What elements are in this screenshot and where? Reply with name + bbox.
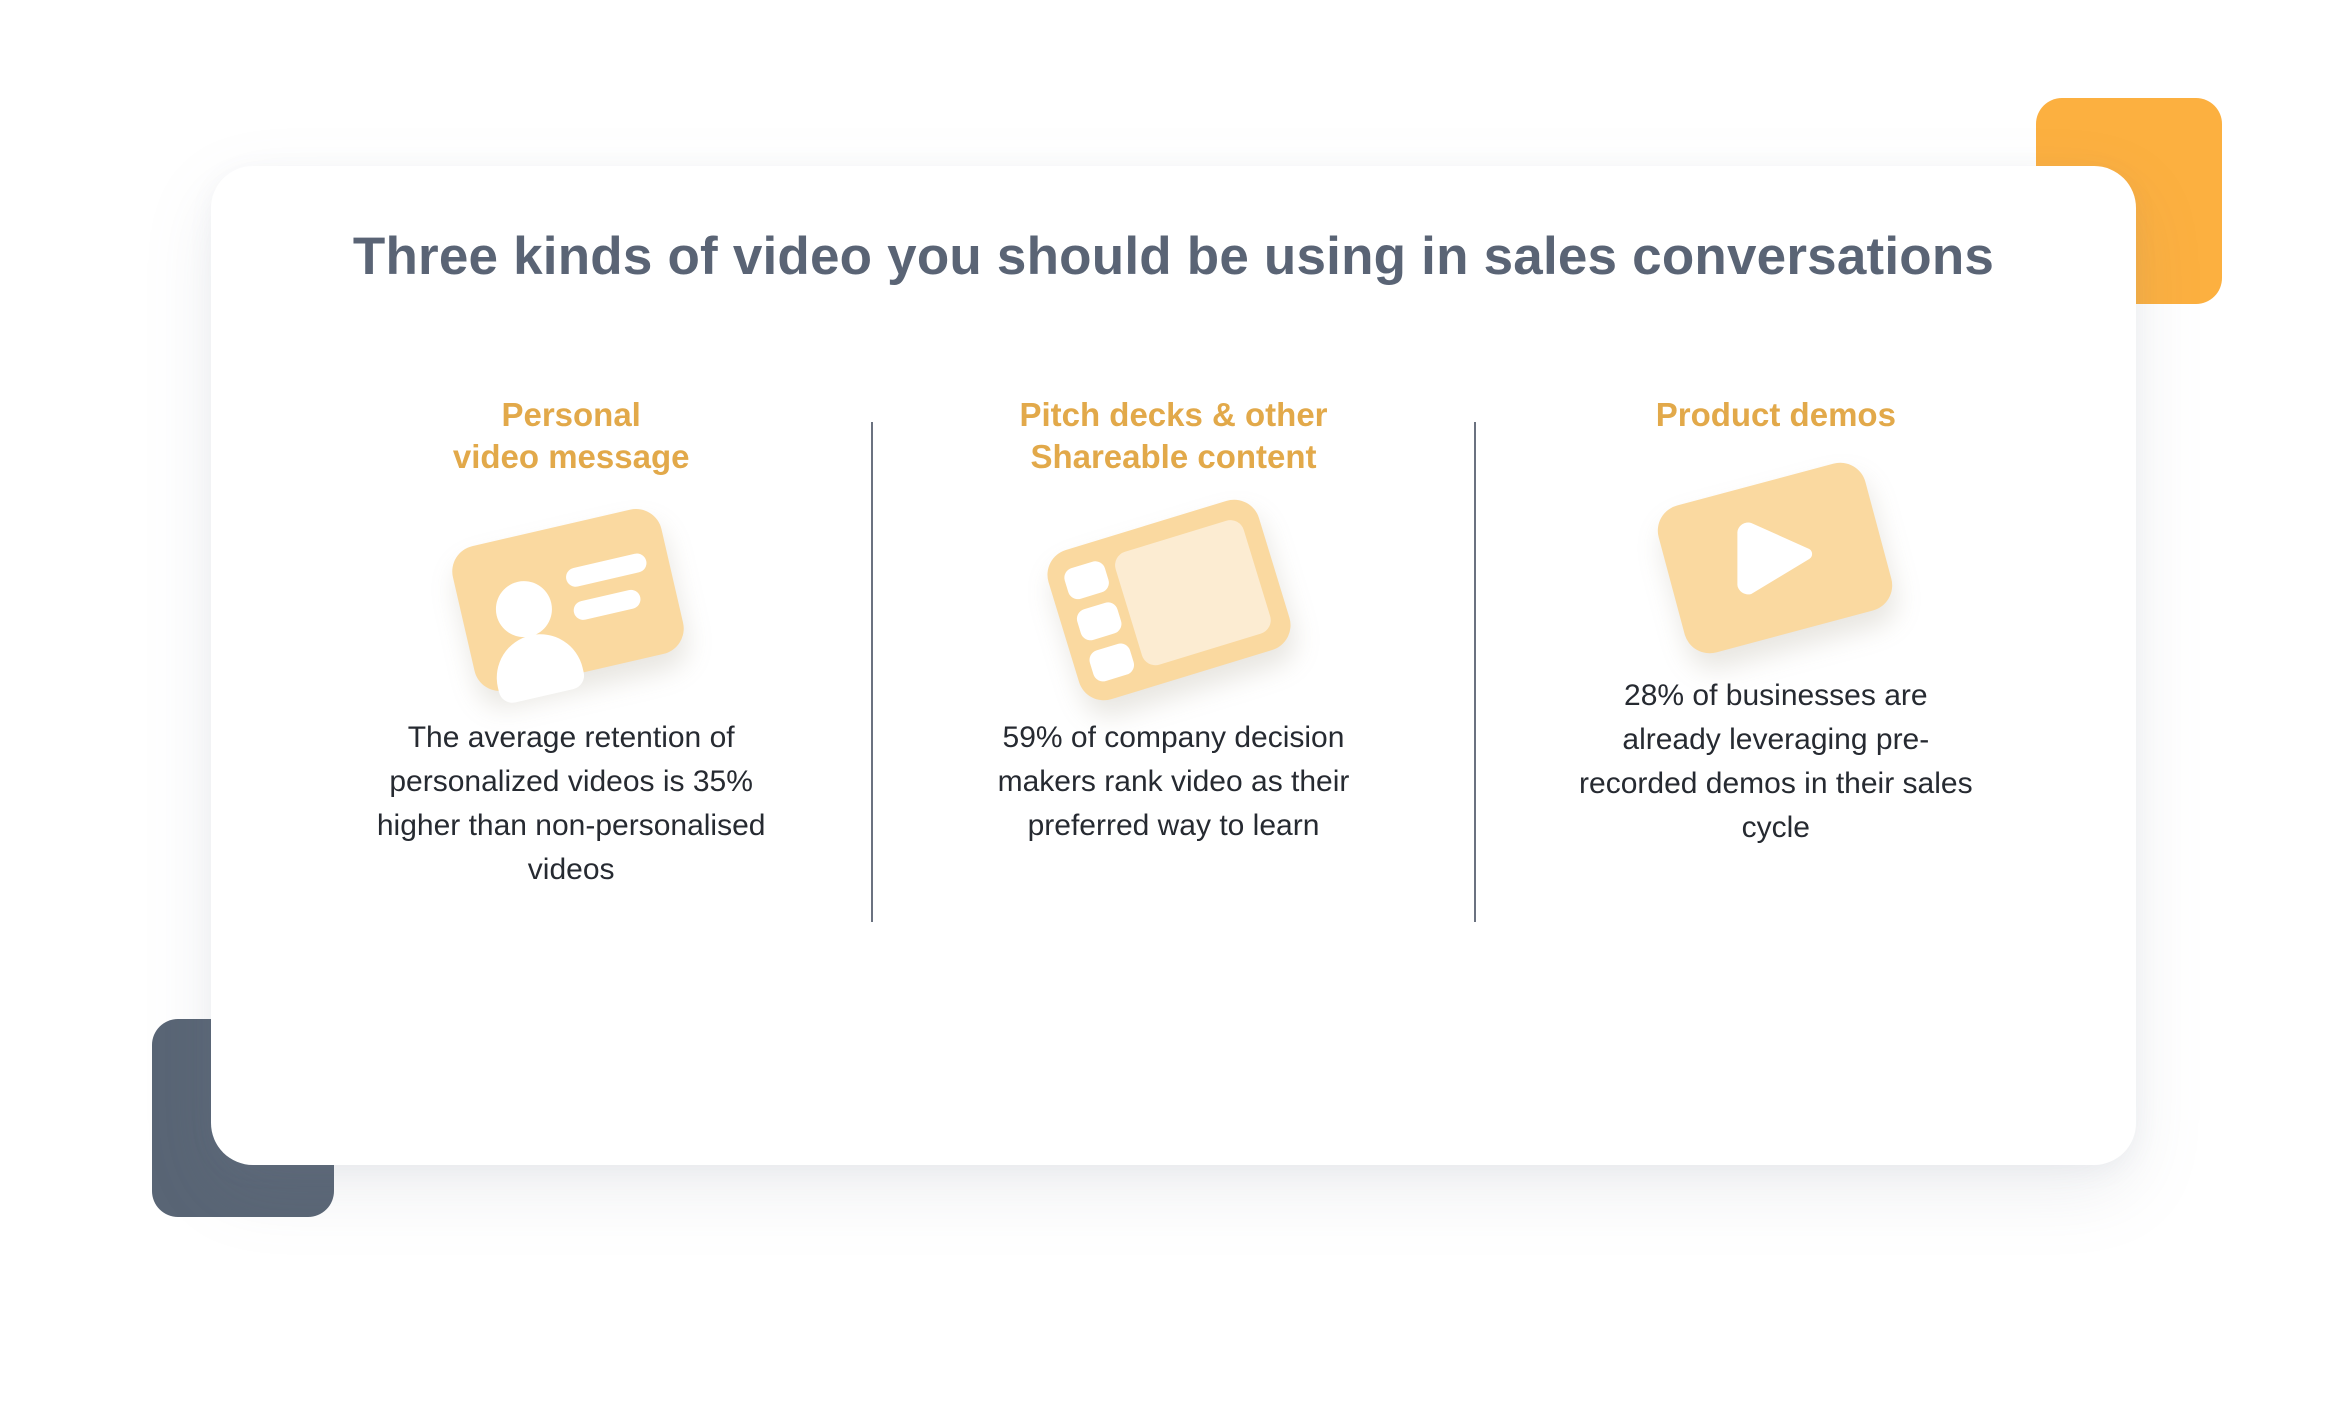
slide-deck-icon: [1041, 493, 1297, 707]
column-body-text: 59% of company decision makers rank vide…: [973, 716, 1373, 848]
person-head-shape: [491, 575, 558, 642]
column-heading: Pitch decks & other Shareable content: [1019, 394, 1327, 478]
person-body-shape: [488, 625, 587, 705]
column-personal-video-message: Personal video message The average reten…: [271, 394, 871, 954]
slide-canvas: Three kinds of video you should be using…: [0, 0, 2348, 1412]
column-heading-line2: video message: [453, 438, 690, 475]
column-heading-line1: Pitch decks & other: [1019, 396, 1327, 433]
slide-thumbnail-3: [1087, 641, 1137, 684]
column-heading: Personal video message: [453, 394, 690, 478]
main-slide-shape: [1112, 516, 1275, 668]
column-heading-line1: Product demos: [1656, 396, 1896, 433]
content-card: Three kinds of video you should be using…: [211, 166, 2136, 1165]
column-pitch-decks: Pitch decks & other Shareable content 59…: [873, 394, 1473, 954]
column-body-text: The average retention of personalized vi…: [356, 716, 786, 892]
icon-wrap: [431, 504, 711, 694]
page-title: Three kinds of video you should be using…: [211, 226, 2136, 287]
slide-thumbnail-1: [1062, 559, 1112, 602]
column-body-text: 28% of businesses are already leveraging…: [1576, 674, 1976, 850]
text-bar-short: [572, 588, 643, 622]
column-heading-line1: Personal: [501, 396, 640, 433]
icon-wrap: [1033, 504, 1313, 694]
column-heading-line2: Shareable content: [1030, 438, 1316, 475]
text-bar-long: [564, 551, 648, 588]
slide-thumbnail-2: [1075, 600, 1125, 643]
column-product-demos: Product demos 28% of businesses are alre…: [1476, 394, 2076, 954]
play-button-icon: [1652, 457, 1898, 659]
icon-wrap: [1636, 462, 1916, 652]
columns-container: Personal video message The average reten…: [271, 394, 2076, 954]
id-card-person-icon: [447, 504, 689, 696]
column-heading: Product demos: [1656, 394, 1896, 436]
